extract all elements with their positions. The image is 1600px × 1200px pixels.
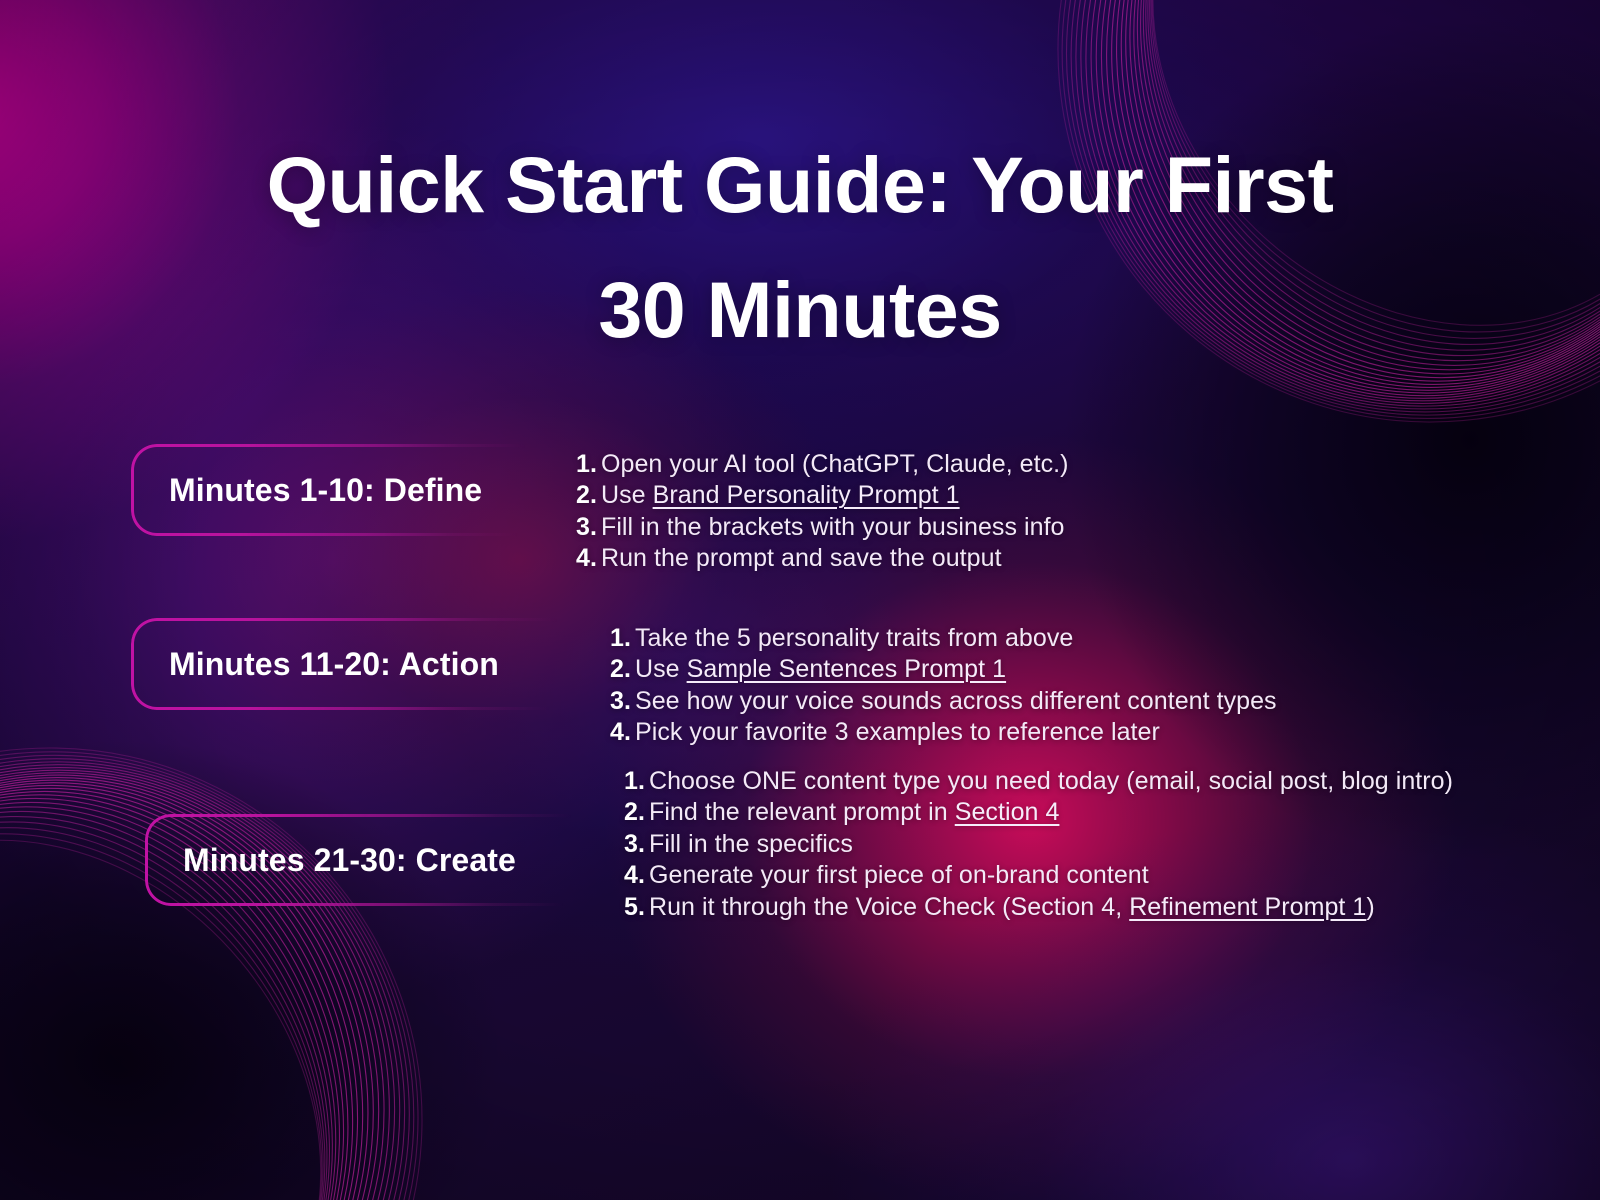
section-minutes-1-10: Minutes 1-10: Define Open your AI tool (… bbox=[0, 440, 1600, 590]
list-item: Use Sample Sentences Prompt 1 bbox=[601, 654, 1600, 685]
badge-label: Minutes 11-20: Action bbox=[169, 646, 499, 683]
list-item: Take the 5 personality traits from above bbox=[601, 623, 1600, 654]
step-text: Find the relevant prompt in bbox=[649, 798, 955, 826]
link-refinement-prompt-1[interactable]: Refinement Prompt 1 bbox=[1129, 893, 1366, 921]
badge-minutes-21-30[interactable]: Minutes 21-30: Create bbox=[145, 814, 591, 906]
page-title: Quick Start Guide: Your First 30 Minutes bbox=[0, 122, 1600, 372]
list-item: Fill in the brackets with your business … bbox=[567, 512, 1600, 543]
section-minutes-21-30: Minutes 21-30: Create Choose ONE content… bbox=[0, 788, 1600, 938]
slide-canvas: Quick Start Guide: Your First 30 Minutes… bbox=[0, 0, 1600, 1200]
step-text: Generate your first piece of on-brand co… bbox=[649, 861, 1149, 889]
list-item: Find the relevant prompt in Section 4 bbox=[615, 797, 1600, 828]
list-item: Run it through the Voice Check (Section … bbox=[615, 892, 1600, 923]
badge-label: Minutes 21-30: Create bbox=[183, 842, 516, 879]
step-text: Fill in the specifics bbox=[649, 830, 853, 858]
section-minutes-11-20: Minutes 11-20: Action Take the 5 persona… bbox=[0, 614, 1600, 764]
step-text: Open your AI tool (ChatGPT, Claude, etc.… bbox=[601, 450, 1069, 478]
badge-minutes-1-10[interactable]: Minutes 1-10: Define bbox=[131, 444, 543, 536]
list-item: Pick your favorite 3 examples to referen… bbox=[601, 717, 1600, 748]
list-item: Open your AI tool (ChatGPT, Claude, etc.… bbox=[567, 449, 1600, 480]
step-text-tail: ) bbox=[1366, 893, 1374, 921]
step-text: Use bbox=[601, 481, 653, 509]
steps-list-2: Take the 5 personality traits from above… bbox=[601, 621, 1600, 749]
sections-list: Minutes 1-10: Define Open your AI tool (… bbox=[0, 440, 1600, 938]
steps-list-3: Choose ONE content type you need today (… bbox=[615, 764, 1600, 923]
page-title-line-2: 30 Minutes bbox=[0, 247, 1600, 372]
link-brand-personality-prompt-1[interactable]: Brand Personality Prompt 1 bbox=[653, 481, 960, 509]
badge-label: Minutes 1-10: Define bbox=[169, 472, 482, 509]
step-text: Run the prompt and save the output bbox=[601, 544, 1002, 572]
steps-list-1: Open your AI tool (ChatGPT, Claude, etc.… bbox=[567, 447, 1600, 575]
step-text: Use bbox=[635, 655, 687, 683]
step-text: Pick your favorite 3 examples to referen… bbox=[635, 718, 1160, 746]
step-text: Choose ONE content type you need today (… bbox=[649, 767, 1453, 795]
step-text: Fill in the brackets with your business … bbox=[601, 513, 1065, 541]
list-item: Generate your first piece of on-brand co… bbox=[615, 860, 1600, 891]
page-title-line-1: Quick Start Guide: Your First bbox=[0, 122, 1600, 247]
step-text: Take the 5 personality traits from above bbox=[635, 624, 1073, 652]
link-section-4[interactable]: Section 4 bbox=[955, 798, 1060, 826]
step-text: Run it through the Voice Check (Section … bbox=[649, 893, 1129, 921]
badge-minutes-11-20[interactable]: Minutes 11-20: Action bbox=[131, 618, 577, 710]
list-item: See how your voice sounds across differe… bbox=[601, 686, 1600, 717]
step-text: See how your voice sounds across differe… bbox=[635, 687, 1277, 715]
link-sample-sentences-prompt-1[interactable]: Sample Sentences Prompt 1 bbox=[687, 655, 1006, 683]
list-item: Choose ONE content type you need today (… bbox=[615, 766, 1600, 797]
list-item: Fill in the specifics bbox=[615, 829, 1600, 860]
list-item: Use Brand Personality Prompt 1 bbox=[567, 480, 1600, 511]
list-item: Run the prompt and save the output bbox=[567, 543, 1600, 574]
